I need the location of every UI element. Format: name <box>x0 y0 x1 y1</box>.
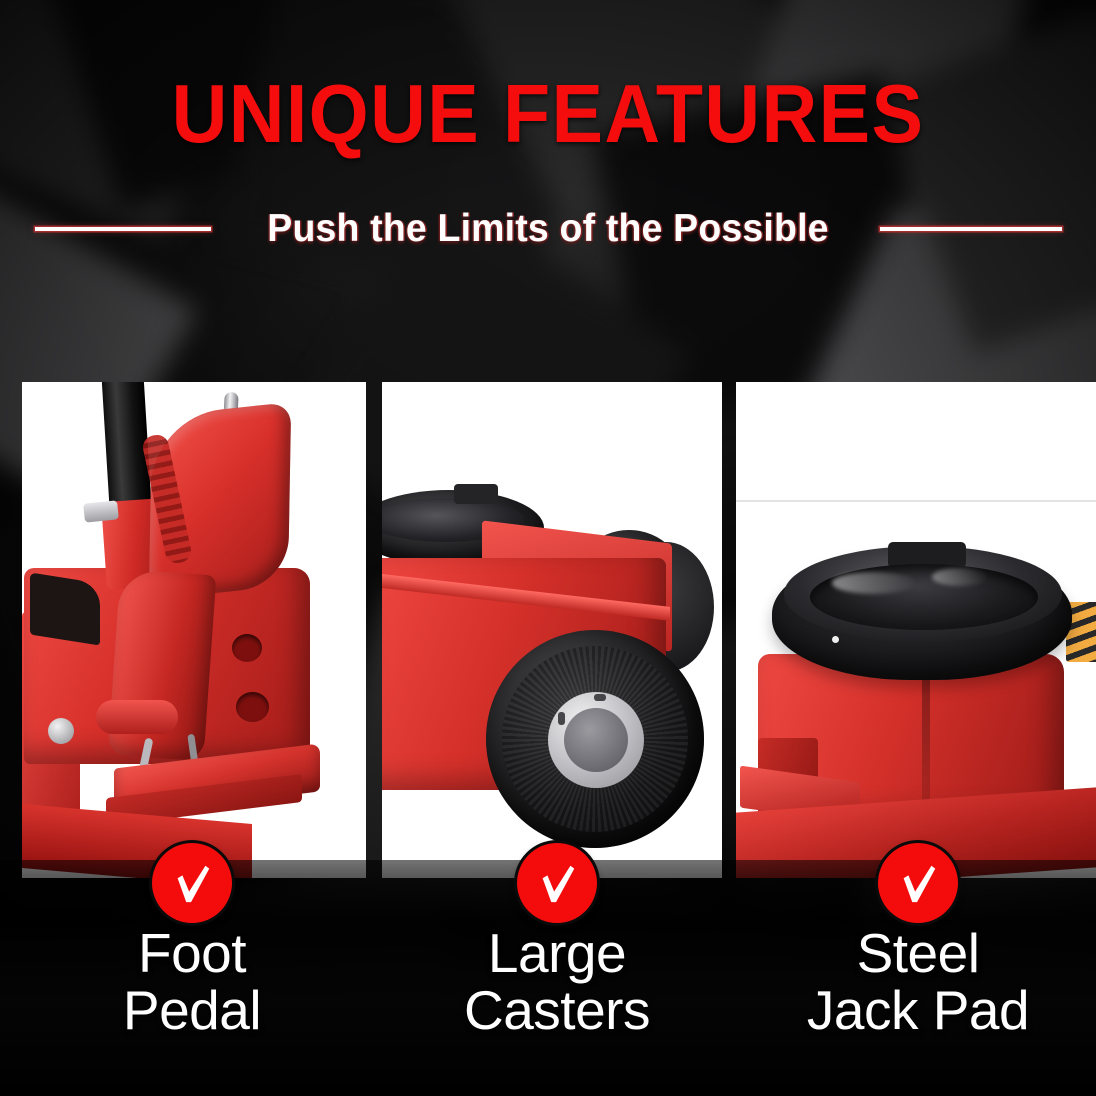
feature-label-line1: Foot <box>138 922 246 984</box>
feature-photo-large-casters <box>382 382 722 878</box>
feature-label-line2: Jack Pad <box>753 982 1083 1039</box>
photo-jack-pad-illustration <box>736 382 1096 878</box>
photo-foot-pedal-illustration <box>22 382 366 878</box>
check-badge-large-casters <box>517 843 597 923</box>
feature-label-large-casters: Large Casters <box>392 925 722 1039</box>
feature-label-line2: Casters <box>392 982 722 1039</box>
feature-photo-foot-pedal <box>22 382 366 878</box>
feature-highlight-banner: UNIQUE FEATURES Push the Limits of the P… <box>0 0 1096 1096</box>
photo-casters-illustration <box>382 382 722 878</box>
feature-label-steel-jack-pad: Steel Jack Pad <box>753 925 1083 1039</box>
feature-photo-steel-jack-pad <box>736 382 1096 878</box>
check-icon <box>534 860 580 906</box>
feature-label-foot-pedal: Foot Pedal <box>27 925 357 1039</box>
check-badge-steel-jack-pad <box>878 843 958 923</box>
check-badge-foot-pedal <box>152 843 232 923</box>
check-icon <box>169 860 215 906</box>
subtitle-row: Push the Limits of the Possible <box>0 203 1096 255</box>
divider-line-right <box>880 227 1062 231</box>
check-icon <box>895 860 941 906</box>
feature-label-line1: Steel <box>857 922 980 984</box>
feature-label-line1: Large <box>488 922 626 984</box>
page-title: UNIQUE FEATURES <box>38 72 1057 156</box>
feature-label-line2: Pedal <box>27 982 357 1039</box>
